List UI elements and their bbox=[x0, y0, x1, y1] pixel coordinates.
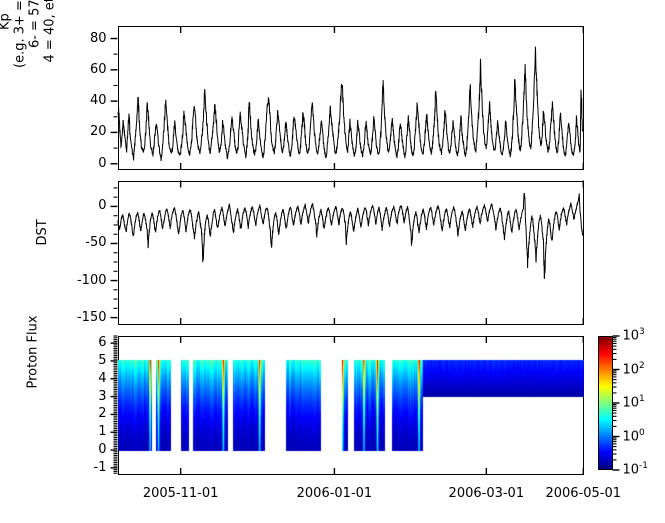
ytick-kp: 20 bbox=[0, 124, 107, 139]
ylabel-proton-flux-line-0: Proton Flux bbox=[25, 315, 40, 388]
ytick-pf: 4 bbox=[0, 371, 107, 386]
figure-canvas: 0204060800-50-100-1506543210-12005-11-01… bbox=[0, 0, 665, 523]
xtick-0: 2005-11-01 bbox=[121, 486, 241, 501]
ylabel-proton-flux: Proton Flux bbox=[25, 315, 40, 388]
ytick-pf: 1 bbox=[0, 424, 107, 439]
ytick-pf: -1 bbox=[0, 460, 107, 475]
colorbar bbox=[598, 336, 613, 470]
ylabel-dst-line-0: DST bbox=[35, 219, 50, 245]
ytick-dst: -150 bbox=[0, 310, 107, 325]
ytick-dst: -100 bbox=[0, 273, 107, 288]
colorbar-gradient bbox=[599, 337, 612, 469]
ytick-pf: 0 bbox=[0, 442, 107, 457]
ylabel-kp-line-1: (e.g. 3+ = 33, bbox=[13, 0, 28, 68]
ytick-dst: 0 bbox=[0, 198, 107, 213]
ylabel-kp: Kp(e.g. 3+ = 33,6- = 57,4 = 40, etc.) bbox=[0, 0, 58, 68]
ytick-pf: 6 bbox=[0, 335, 107, 350]
ytick-pf: 2 bbox=[0, 406, 107, 421]
panel-dst bbox=[118, 181, 584, 326]
ytick-kp: 0 bbox=[0, 156, 107, 171]
xtick-1: 2006-01-01 bbox=[274, 486, 394, 501]
colorbar-tick-0: 103 bbox=[623, 327, 645, 343]
ylabel-dst: DST bbox=[35, 219, 50, 245]
colorbar-tick-1: 102 bbox=[623, 361, 645, 377]
xtick-3: 2006-05-01 bbox=[523, 486, 643, 501]
ytick-pf: 3 bbox=[0, 389, 107, 404]
colorbar-tick-3: 100 bbox=[623, 428, 645, 444]
colorbar-tick-4: 10-1 bbox=[623, 461, 649, 477]
ylabel-kp-line-2: 6- = 57, bbox=[28, 0, 43, 68]
ylabel-kp-line-3: 4 = 40, etc.) bbox=[43, 0, 58, 68]
ytick-dst: -50 bbox=[0, 235, 107, 250]
ytick-kp: 40 bbox=[0, 93, 107, 108]
proton-flux-spectrogram bbox=[118, 336, 584, 475]
colorbar-tick-2: 101 bbox=[623, 394, 645, 410]
ytick-pf: 5 bbox=[0, 353, 107, 368]
ylabel-kp-line-0: Kp bbox=[0, 0, 13, 68]
panel-kp bbox=[118, 26, 584, 170]
